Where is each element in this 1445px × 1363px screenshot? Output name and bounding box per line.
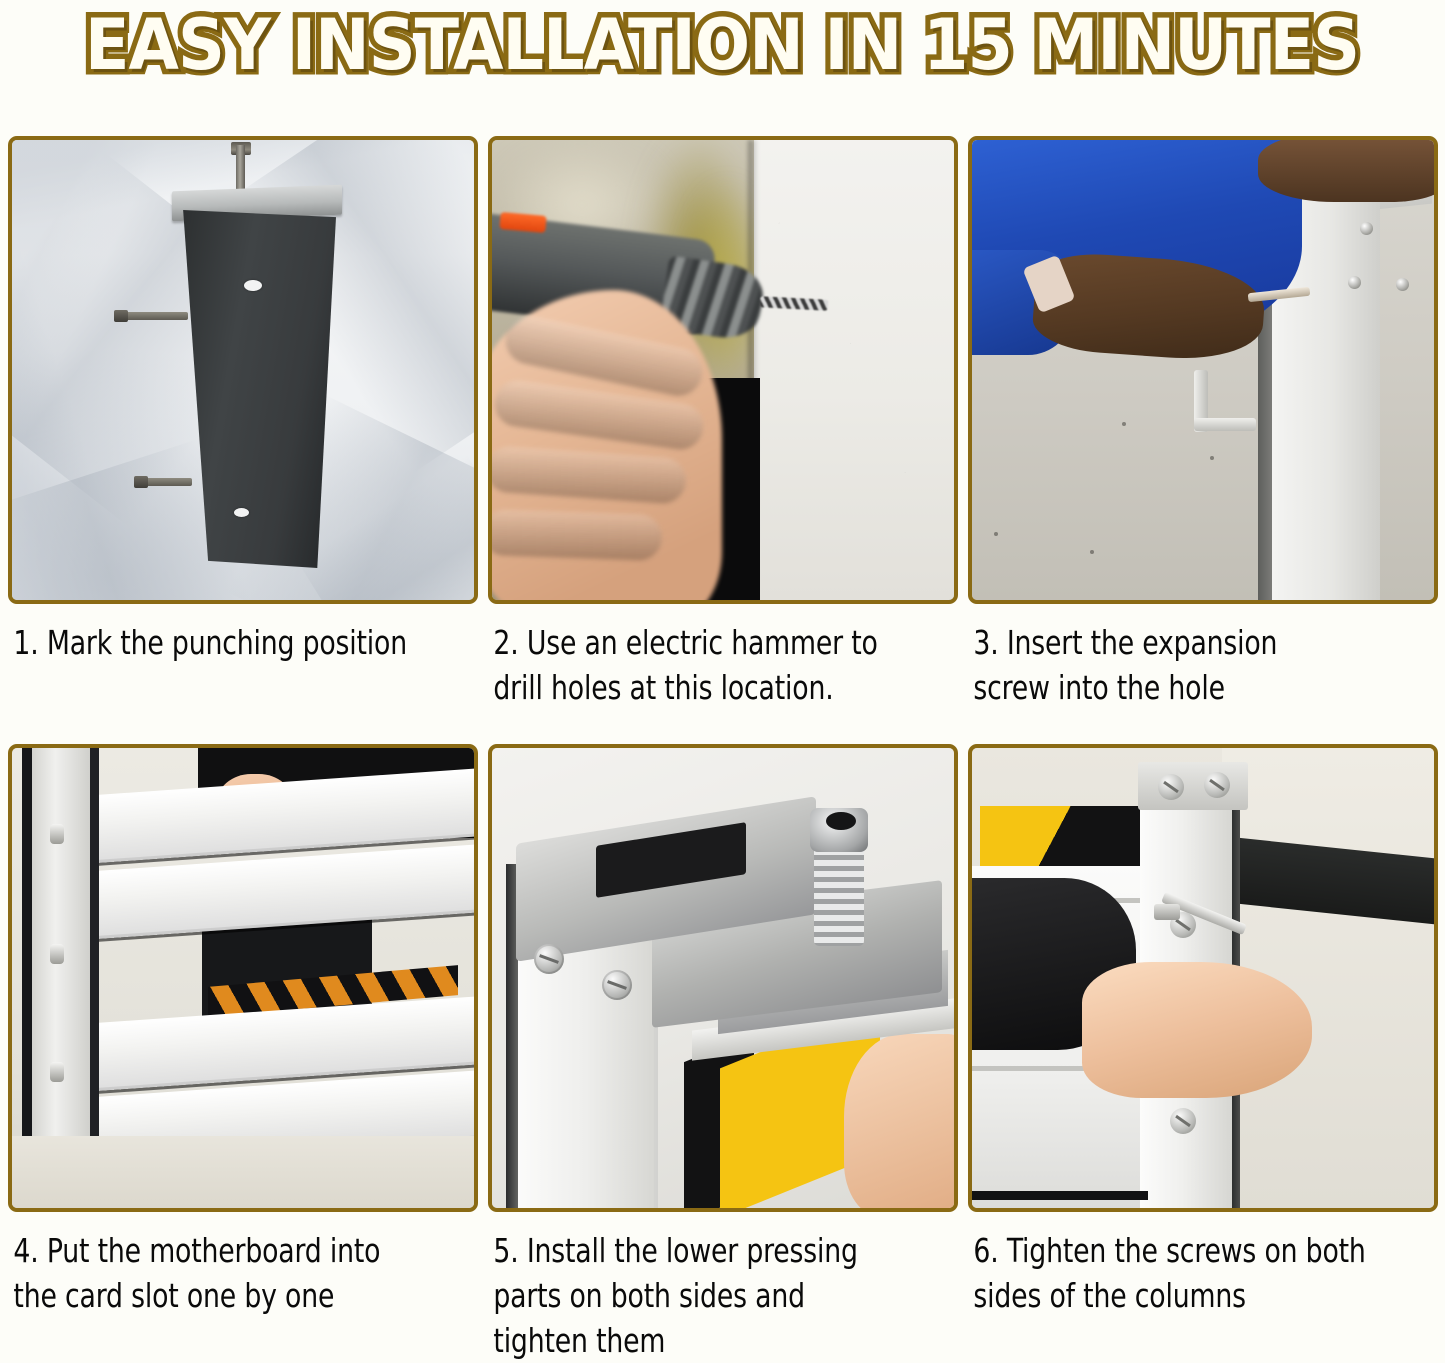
- step-6-photo: [972, 748, 1434, 1208]
- step-5-caption-cell: 5. Install the lower pressing parts on b…: [488, 1212, 958, 1346]
- grid-gap: [478, 604, 488, 744]
- step-5-photo-frame: [488, 744, 958, 1212]
- steps-grid: 1. Mark the punching position 2. Use an …: [8, 136, 1438, 1346]
- page-title: EASY INSTALLATION IN 15 MINUTES: [85, 8, 1359, 82]
- title-banner: EASY INSTALLATION IN 15 MINUTES: [0, 2, 1445, 88]
- step-4-photo-frame: [8, 744, 478, 1212]
- step-2-caption-cell: 2. Use an electric hammer to drill holes…: [488, 604, 958, 744]
- step-5-image-cell: [488, 744, 958, 1212]
- step-3-image-cell: [968, 136, 1438, 604]
- step-5-photo: [492, 748, 954, 1208]
- step-1-photo: [12, 140, 474, 600]
- grid-gap: [478, 136, 488, 604]
- grid-gap: [958, 136, 968, 604]
- step-6-image-cell: [968, 744, 1438, 1212]
- grid-gap: [478, 1212, 488, 1346]
- step-2-photo-frame: [488, 136, 958, 604]
- step-5-caption: 5. Install the lower pressing parts on b…: [488, 1212, 911, 1363]
- step-4-image-cell: [8, 744, 478, 1212]
- step-3-caption: 3. Insert the expansion screw into the h…: [968, 604, 1391, 710]
- step-1-caption: 1. Mark the punching position: [8, 604, 431, 665]
- step-1-image-cell: [8, 136, 478, 604]
- grid-gap: [958, 744, 968, 1212]
- step-2-image-cell: [488, 136, 958, 604]
- step-3-caption-cell: 3. Insert the expansion screw into the h…: [968, 604, 1438, 744]
- step-3-photo: [972, 140, 1434, 600]
- step-2-caption: 2. Use an electric hammer to drill holes…: [488, 604, 911, 710]
- installation-guide-page: EASY INSTALLATION IN 15 MINUTES: [0, 0, 1445, 1352]
- step-2-photo: [492, 140, 954, 600]
- step-4-photo: [12, 748, 474, 1208]
- step-6-photo-frame: [968, 744, 1438, 1212]
- grid-gap: [478, 744, 488, 1212]
- step-4-caption: 4. Put the motherboard into the card slo…: [8, 1212, 431, 1318]
- grid-gap: [958, 604, 968, 744]
- step-6-caption-cell: 6. Tighten the screws on both sides of t…: [968, 1212, 1438, 1346]
- step-6-caption: 6. Tighten the screws on both sides of t…: [968, 1212, 1391, 1318]
- step-3-photo-frame: [968, 136, 1438, 604]
- step-1-caption-cell: 1. Mark the punching position: [8, 604, 478, 744]
- grid-gap: [958, 1212, 968, 1346]
- step-4-caption-cell: 4. Put the motherboard into the card slo…: [8, 1212, 478, 1346]
- step-1-photo-frame: [8, 136, 478, 604]
